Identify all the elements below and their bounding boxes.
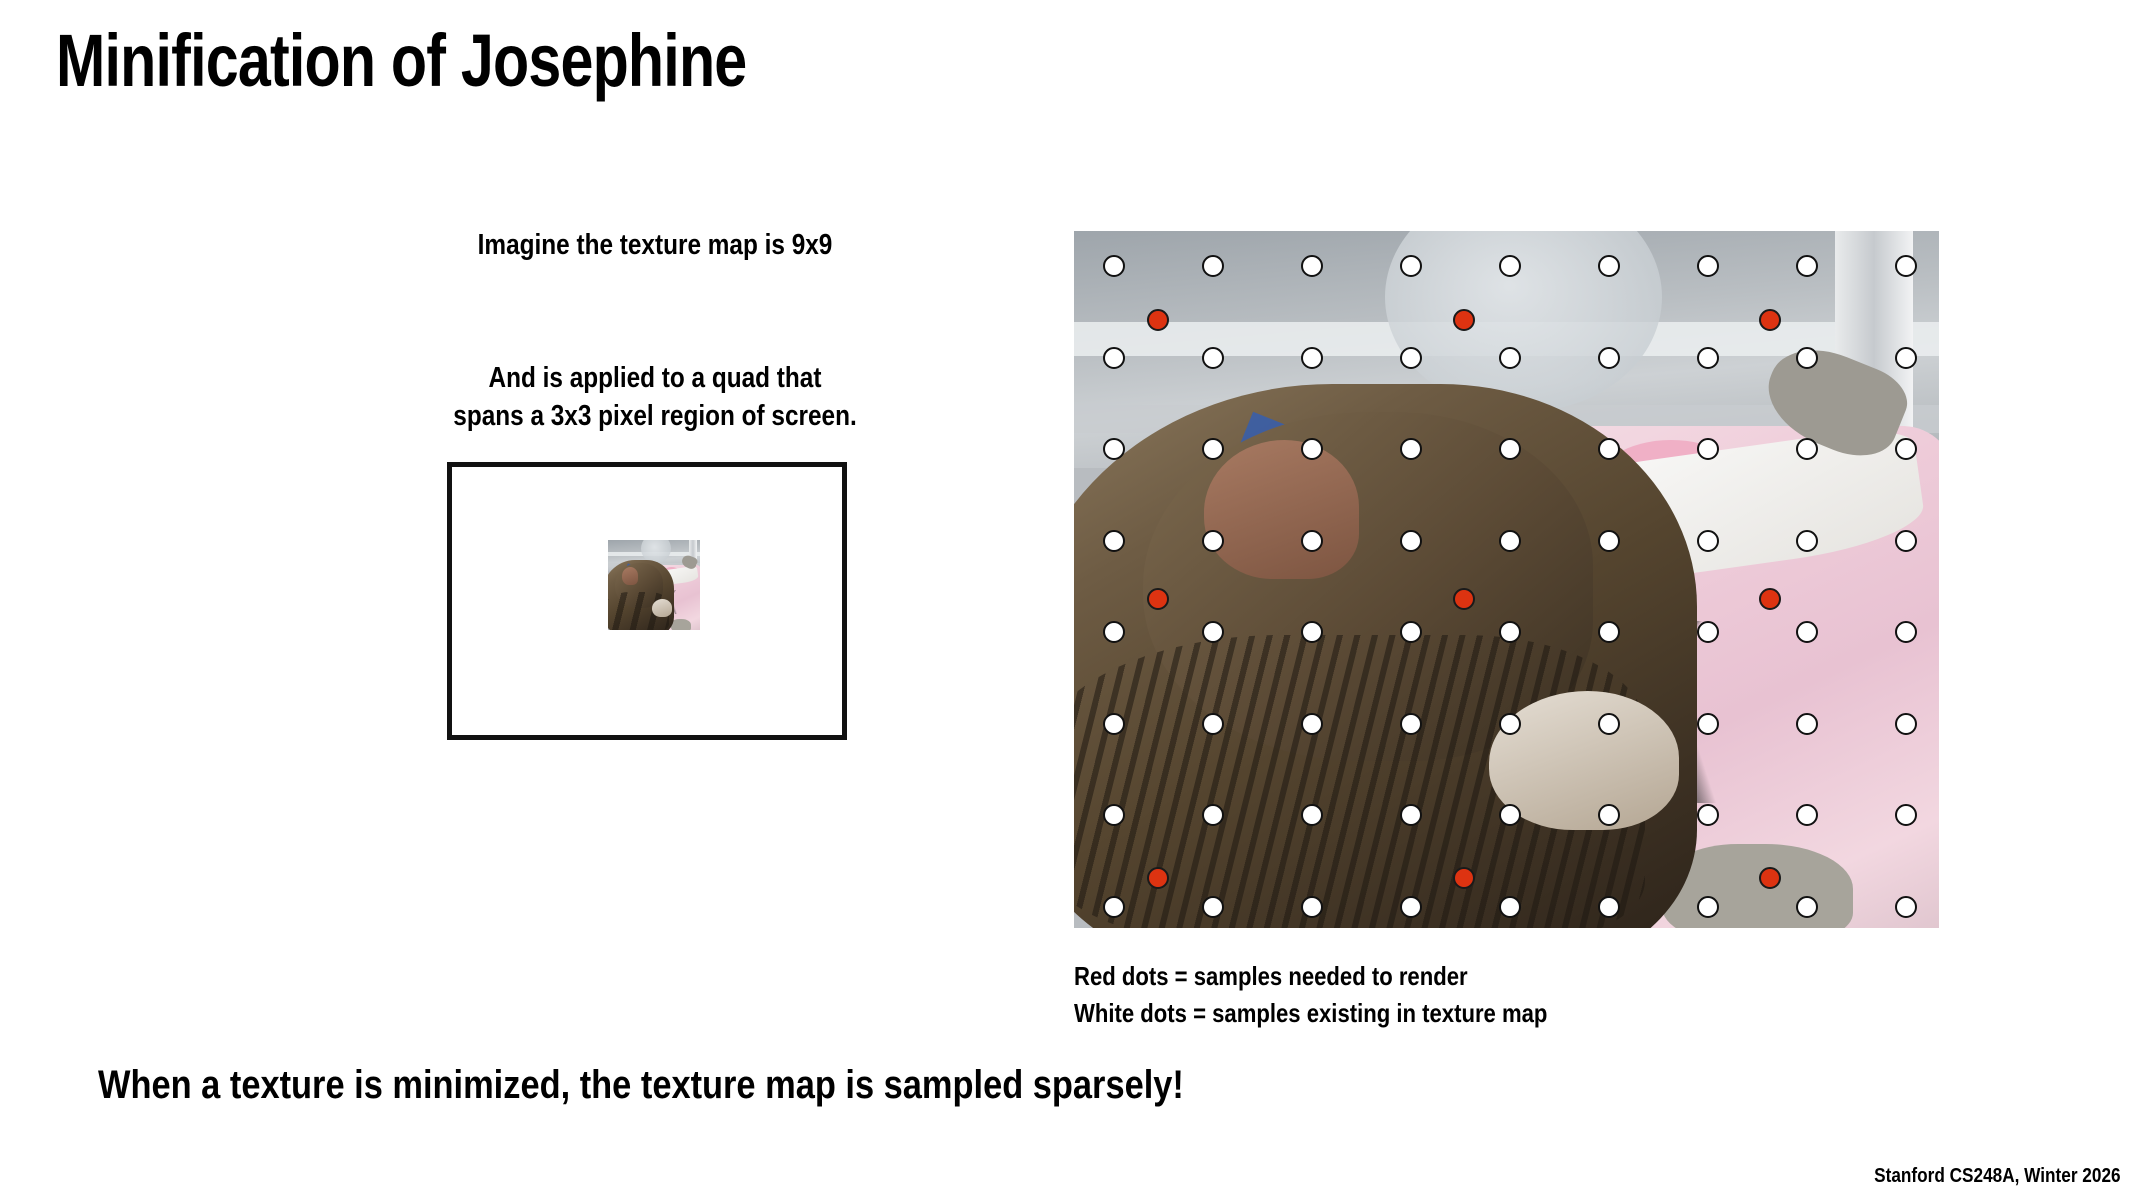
texel-sample-dot <box>1598 347 1620 369</box>
needed-sample-dot <box>1759 588 1781 610</box>
legend-red-dots: Red dots = samples needed to render <box>1074 958 1547 995</box>
texel-sample-dot <box>1202 347 1224 369</box>
texel-sample-dot <box>1598 713 1620 735</box>
texel-sample-dot <box>1400 438 1422 460</box>
caption-quad-span-line2: spans a 3x3 pixel region of screen. <box>441 398 869 436</box>
texel-sample-dot <box>1598 438 1620 460</box>
texel-sample-dot <box>1895 347 1917 369</box>
texel-sample-dot <box>1895 438 1917 460</box>
texel-sample-dot <box>1301 438 1323 460</box>
texel-sample-dot <box>1895 530 1917 552</box>
caption-quad-span-line1: And is applied to a quad that <box>441 360 869 398</box>
takeaway-statement: When a texture is minimized, the texture… <box>98 1063 1184 1108</box>
texel-sample-dot <box>1103 530 1125 552</box>
texel-sample-dot <box>1598 621 1620 643</box>
texel-sample-dot <box>1895 896 1917 918</box>
texel-sample-dot <box>1202 896 1224 918</box>
texel-sample-dot <box>1697 438 1719 460</box>
texel-sample-dot <box>1598 530 1620 552</box>
texel-sample-dot <box>1103 621 1125 643</box>
needed-sample-dot <box>1147 309 1169 331</box>
screen-region-frame <box>447 462 847 740</box>
needed-sample-dot <box>1453 309 1475 331</box>
texel-sample-dot <box>1301 896 1323 918</box>
texel-sample-dot <box>1796 621 1818 643</box>
texel-sample-dot <box>1796 713 1818 735</box>
texel-sample-dot <box>1499 804 1521 826</box>
needed-sample-dot <box>1759 309 1781 331</box>
legend-white-dots: White dots = samples existing in texture… <box>1074 995 1547 1032</box>
texel-sample-dot <box>1400 896 1422 918</box>
texel-sample-dot <box>1301 804 1323 826</box>
texel-sample-dot <box>1697 255 1719 277</box>
needed-sample-dot <box>1759 867 1781 889</box>
cat-paw <box>652 599 672 617</box>
blanket-grey-tassel-bottom <box>671 619 691 630</box>
texel-sample-dot <box>1202 804 1224 826</box>
texel-sample-dot <box>1499 347 1521 369</box>
texel-sample-dot <box>1301 530 1323 552</box>
texel-sample-dot <box>1301 713 1323 735</box>
texel-sample-dot <box>1202 621 1224 643</box>
texel-sample-dot <box>1499 530 1521 552</box>
texel-sample-dot <box>1697 713 1719 735</box>
texel-sample-dot <box>1301 255 1323 277</box>
texel-sample-dot <box>1499 438 1521 460</box>
texel-sample-dot <box>1796 255 1818 277</box>
needed-sample-dot <box>1453 588 1475 610</box>
needed-sample-dot <box>1453 867 1475 889</box>
texture-map-photo <box>1074 231 1939 928</box>
texel-sample-dot <box>1499 896 1521 918</box>
cat-ear <box>622 567 639 585</box>
texel-sample-dot <box>1103 255 1125 277</box>
texel-sample-dot <box>1796 804 1818 826</box>
minified-texture-thumbnail <box>608 540 700 630</box>
texel-sample-dot <box>1895 255 1917 277</box>
texel-sample-dot <box>1499 621 1521 643</box>
texel-sample-dot <box>1301 347 1323 369</box>
texel-sample-dot <box>1103 347 1125 369</box>
texel-sample-dot <box>1499 255 1521 277</box>
texel-sample-dot <box>1598 896 1620 918</box>
texel-sample-dot <box>1697 896 1719 918</box>
texel-sample-dot <box>1895 804 1917 826</box>
texel-sample-dot <box>1697 804 1719 826</box>
texel-sample-dot <box>1895 713 1917 735</box>
slide-root: Minification of Josephine Imagine the te… <box>0 0 2133 1200</box>
texel-sample-dot <box>1499 713 1521 735</box>
texel-sample-dot <box>1202 438 1224 460</box>
texel-sample-dot <box>1796 347 1818 369</box>
texel-sample-dot <box>1796 530 1818 552</box>
texel-sample-dot <box>1103 438 1125 460</box>
texel-sample-dot <box>1400 621 1422 643</box>
caption-texture-size: Imagine the texture map is 9x9 <box>466 227 844 265</box>
texel-sample-dot <box>1598 804 1620 826</box>
texel-sample-dot <box>1796 438 1818 460</box>
texel-sample-dot <box>1400 255 1422 277</box>
texel-sample-dot <box>1202 255 1224 277</box>
texel-sample-dot <box>1598 255 1620 277</box>
needed-sample-dot <box>1147 588 1169 610</box>
texel-sample-dot <box>1895 621 1917 643</box>
sample-dot-overlay <box>1074 231 1939 928</box>
texel-sample-dot <box>1697 530 1719 552</box>
texel-sample-dot <box>1202 530 1224 552</box>
cat-photo-miniature <box>608 540 700 630</box>
texel-sample-dot <box>1301 621 1323 643</box>
needed-sample-dot <box>1147 867 1169 889</box>
texel-sample-dot <box>1796 896 1818 918</box>
texel-sample-dot <box>1697 347 1719 369</box>
texel-sample-dot <box>1400 530 1422 552</box>
caption-quad-span: And is applied to a quad that spans a 3x… <box>441 360 869 435</box>
legend: Red dots = samples needed to render Whit… <box>1074 958 1547 1032</box>
page-title: Minification of Josephine <box>56 22 746 100</box>
texel-sample-dot <box>1400 804 1422 826</box>
texel-sample-dot <box>1202 713 1224 735</box>
texel-sample-dot <box>1400 347 1422 369</box>
course-footer: Stanford CS248A, Winter 2026 <box>1875 1165 2121 1188</box>
texel-sample-dot <box>1103 896 1125 918</box>
texel-sample-dot <box>1400 713 1422 735</box>
texel-sample-dot <box>1103 804 1125 826</box>
texel-sample-dot <box>1697 621 1719 643</box>
texel-sample-dot <box>1103 713 1125 735</box>
